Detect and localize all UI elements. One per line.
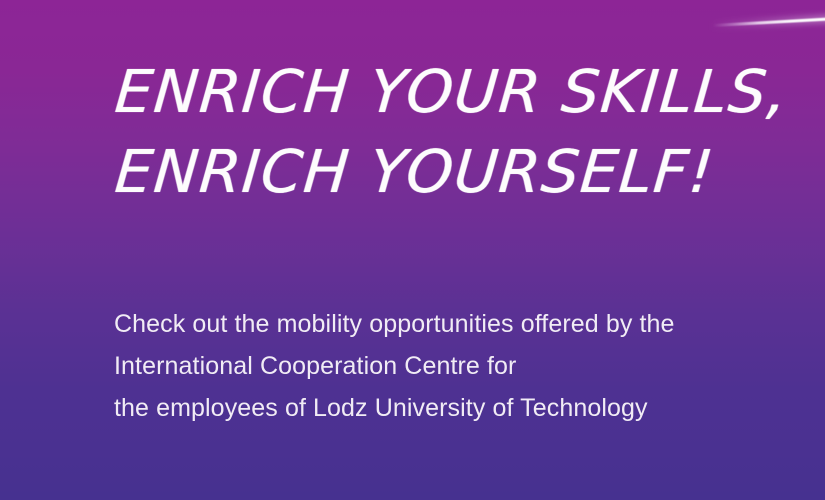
body-copy: Check out the mobility opportunities off…: [114, 303, 754, 429]
headline-line-1: ENRICH YOUR SKILLS,: [112, 52, 799, 132]
decorative-streak-container: [705, 0, 825, 60]
diagonal-light-streak-glow: [709, 13, 825, 30]
body-line-1: Check out the mobility opportunities off…: [114, 303, 754, 345]
body-line-2: International Cooperation Centre for: [114, 345, 754, 387]
headline-line-2: ENRICH YOURSELF!: [112, 132, 799, 212]
diagonal-light-streak-icon: [713, 17, 825, 27]
headline: ENRICH YOUR SKILLS, ENRICH YOURSELF!: [112, 52, 792, 212]
promo-banner: ENRICH YOUR SKILLS, ENRICH YOURSELF! Che…: [0, 0, 825, 500]
body-line-3: the employees of Lodz University of Tech…: [114, 387, 754, 429]
